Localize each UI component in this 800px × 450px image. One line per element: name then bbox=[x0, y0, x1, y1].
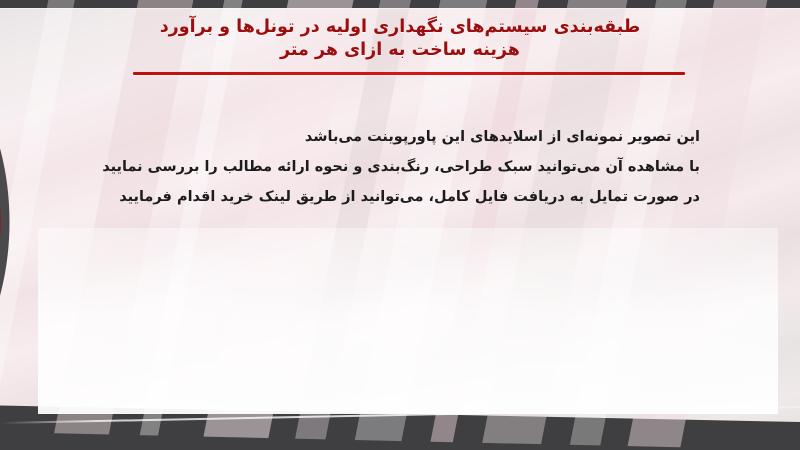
diagonal-band bbox=[615, 0, 777, 450]
presentation-slide: طبقه‌بندی سیستم‌های نگهداری اولیه در تون… bbox=[0, 0, 800, 450]
title-divider-rule bbox=[133, 72, 685, 75]
diagonal-band bbox=[469, 0, 637, 450]
diagonal-band bbox=[189, 0, 362, 450]
lens-fill bbox=[0, 6, 5, 438]
slide-title: طبقه‌بندی سیستم‌های نگهداری اولیه در تون… bbox=[110, 16, 690, 62]
body-line-1: این تصویر نمونه‌ای از اسلایدهای این پاور… bbox=[60, 122, 700, 152]
body-line-3: در صورت تمایل به دریافت فایل کامل، می‌تو… bbox=[60, 182, 700, 212]
slide-body-text: این تصویر نمونه‌ای از اسلایدهای این پاور… bbox=[60, 122, 700, 212]
diagonal-band bbox=[281, 0, 421, 450]
title-line-2: هزینه ساخت به ازای هر متر bbox=[110, 39, 690, 62]
title-line-1: طبقه‌بندی سیستم‌های نگهداری اولیه در تون… bbox=[110, 16, 690, 39]
diagonal-band bbox=[341, 0, 497, 450]
body-line-2: با مشاهده آن می‌توانید سبک طراحی، رنگ‌بن… bbox=[60, 152, 700, 182]
red-lens-shape bbox=[0, 2, 130, 442]
diagonal-band bbox=[557, 0, 697, 450]
diagonal-band bbox=[417, 0, 549, 450]
diagonal-band bbox=[125, 0, 253, 450]
